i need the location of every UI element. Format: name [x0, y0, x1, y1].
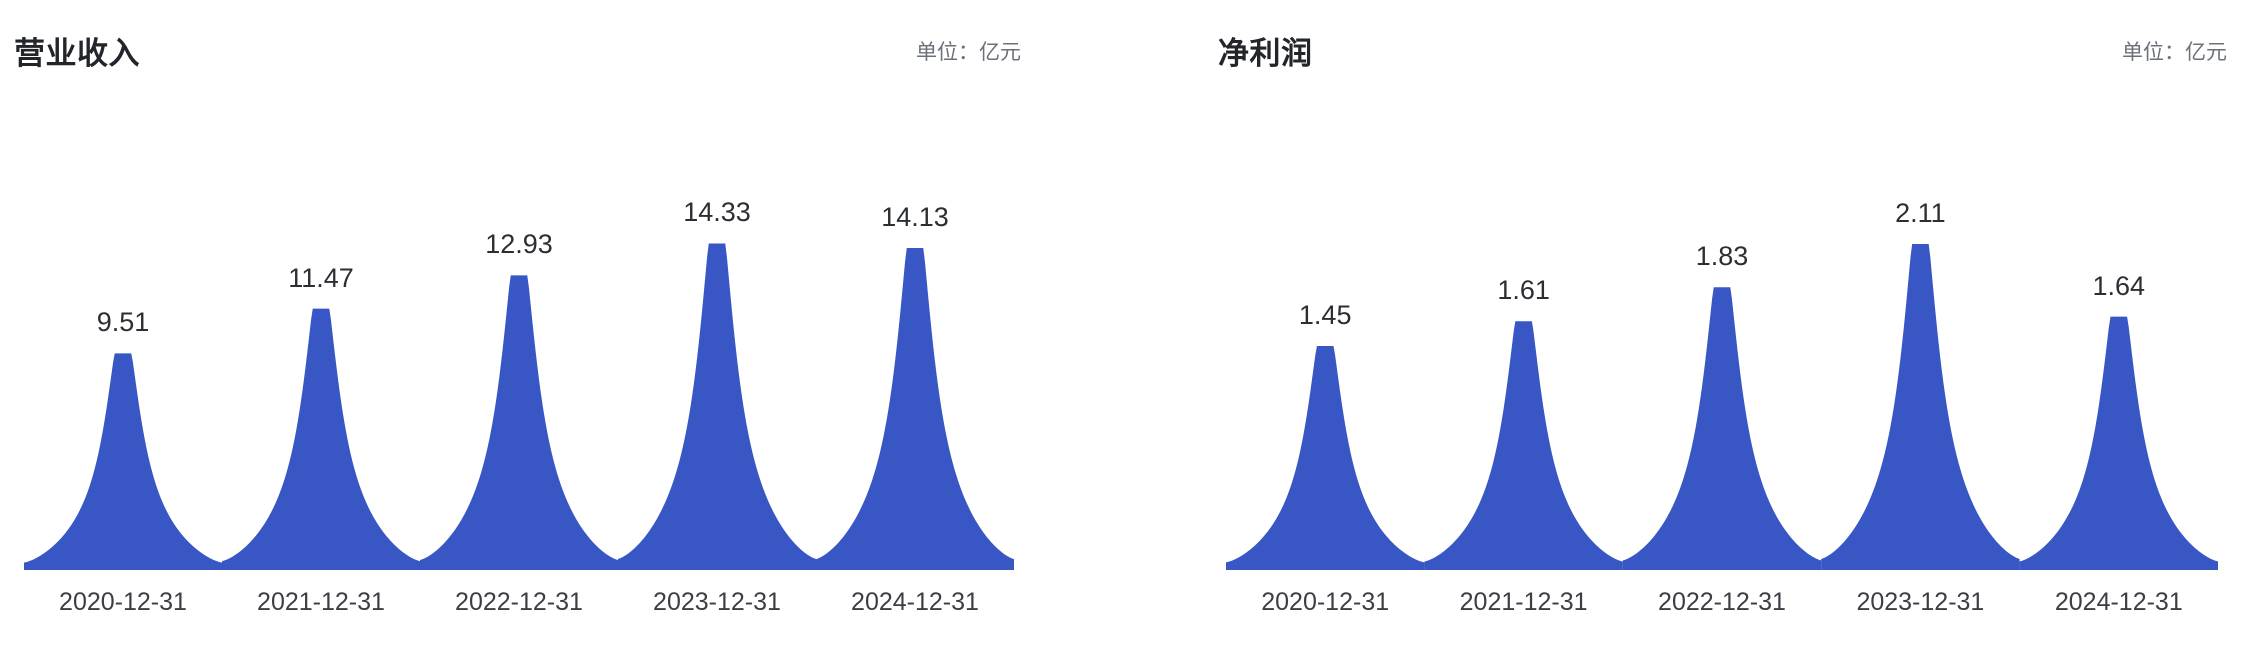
page-title-profit: 净利润: [1218, 28, 1313, 73]
data-spike[interactable]: [420, 275, 618, 570]
plot-area-revenue[interactable]: 9.5111.4712.9314.3314.13: [0, 90, 1122, 575]
dual-chart-board: 营业收入 单位：亿元 9.5111.4712.9314.3314.13 2020…: [0, 0, 2246, 670]
data-value-label: 11.47: [288, 263, 354, 294]
data-spike[interactable]: [24, 353, 222, 570]
x-tick-label: 2020-12-31: [1261, 588, 1389, 617]
x-tick-label: 2023-12-31: [653, 588, 781, 617]
chart-panel-revenue: 营业收入 单位：亿元 9.5111.4712.9314.3314.13 2020…: [0, 0, 1122, 670]
data-spike[interactable]: [222, 309, 420, 570]
data-value-label: 14.33: [683, 197, 751, 228]
data-value-label: 1.83: [1696, 241, 1749, 272]
chart-panel-profit: 净利润 单位：亿元 1.451.611.832.111.64 2020-12-3…: [1122, 0, 2246, 670]
series-shape-group: [0, 90, 1122, 575]
unit-label-profit: 单位：亿元: [2122, 36, 2227, 66]
series-shape-group: [1122, 90, 2246, 575]
plot-area-profit[interactable]: 1.451.611.832.111.64: [1122, 90, 2246, 575]
data-value-label: 1.61: [1497, 275, 1550, 306]
data-value-label: 1.45: [1299, 300, 1352, 331]
data-value-label: 9.51: [97, 307, 150, 338]
data-spike[interactable]: [1424, 321, 1622, 570]
x-tick-label: 2023-12-31: [1856, 588, 1984, 617]
data-spike[interactable]: [1821, 244, 2019, 570]
page-title-revenue: 营业收入: [14, 28, 140, 73]
unit-label-revenue: 单位：亿元: [916, 36, 1021, 66]
data-value-label: 12.93: [485, 229, 553, 260]
panel-header-profit: 净利润 单位：亿元: [1122, 0, 2246, 90]
x-tick-label: 2021-12-31: [257, 588, 385, 617]
panel-header-revenue: 营业收入 单位：亿元: [0, 0, 1122, 90]
data-spike[interactable]: [2020, 317, 2218, 570]
data-value-label: 14.13: [881, 202, 949, 233]
data-value-label: 1.64: [2093, 271, 2146, 302]
data-spike[interactable]: [618, 243, 816, 570]
x-tick-label: 2024-12-31: [851, 588, 979, 617]
data-spike[interactable]: [816, 248, 1014, 570]
x-axis-profit: 2020-12-312021-12-312022-12-312023-12-31…: [1122, 580, 2246, 640]
x-tick-label: 2021-12-31: [1460, 588, 1588, 617]
x-tick-label: 2022-12-31: [455, 588, 583, 617]
data-value-label: 2.11: [1895, 198, 1946, 229]
data-spike[interactable]: [1226, 346, 1424, 570]
x-tick-label: 2020-12-31: [59, 588, 187, 617]
x-axis-revenue: 2020-12-312021-12-312022-12-312023-12-31…: [0, 580, 1122, 640]
data-spike[interactable]: [1623, 287, 1821, 570]
x-tick-label: 2024-12-31: [2055, 588, 2183, 617]
x-tick-label: 2022-12-31: [1658, 588, 1786, 617]
